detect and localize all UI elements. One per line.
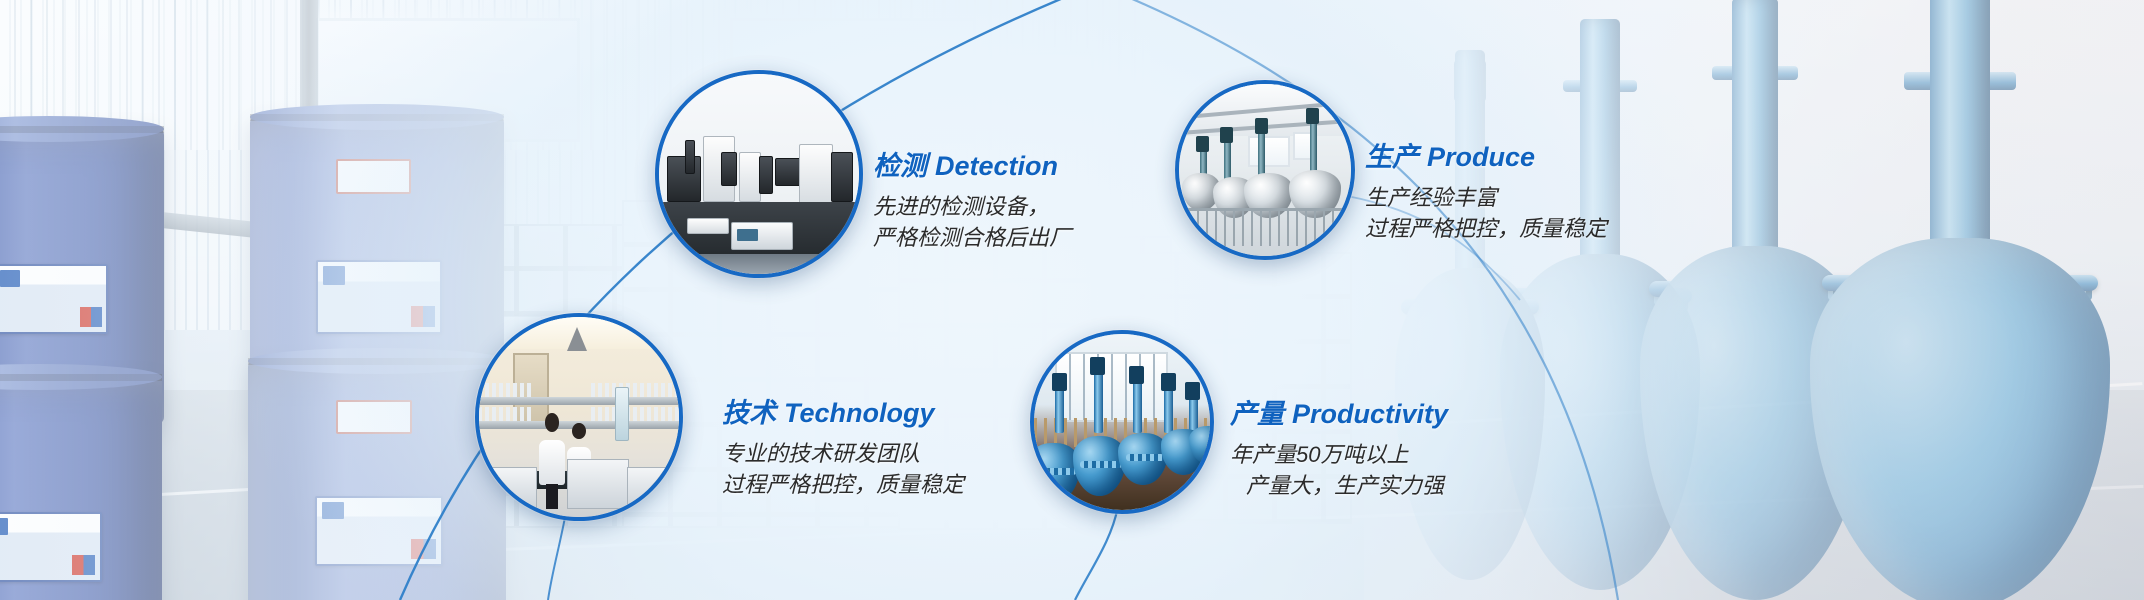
heading-en: Detection bbox=[935, 151, 1058, 181]
feature-heading-produce: 生产Produce bbox=[1365, 143, 1607, 173]
company-strengths-banner: 检测Detection 先进的检测设备， 严格检测合格后出厂 生产Produce… bbox=[0, 0, 2144, 600]
feature-line: 过程严格把控，质量稳定 bbox=[722, 469, 964, 500]
steel-reactors-photo bbox=[1179, 84, 1351, 256]
feature-photo-productivity bbox=[1030, 330, 1214, 514]
feature-heading-technology: 技术Technology bbox=[722, 399, 964, 429]
heading-cn: 生产 bbox=[1365, 142, 1419, 172]
heading-cn: 检测 bbox=[873, 151, 927, 181]
feature-line: 产量大，生产实力强 bbox=[1230, 470, 1448, 501]
feature-line: 严格检测合格后出厂 bbox=[873, 222, 1071, 253]
feature-text-productivity: 产量Productivity 年产量50万吨以上 产量大，生产实力强 bbox=[1230, 400, 1448, 501]
feature-heading-detection: 检测Detection bbox=[873, 152, 1071, 182]
feature-line: 先进的检测设备， bbox=[873, 191, 1071, 222]
feature-line: 专业的技术研发团队 bbox=[722, 438, 964, 469]
heading-cn: 产量 bbox=[1230, 399, 1284, 429]
feature-text-produce: 生产Produce 生产经验丰富 过程严格把控，质量稳定 bbox=[1365, 143, 1607, 244]
feature-line: 生产经验丰富 bbox=[1365, 182, 1607, 213]
feature-heading-productivity: 产量Productivity bbox=[1230, 400, 1448, 430]
blue-reactors-photo bbox=[1034, 334, 1210, 510]
heading-en: Productivity bbox=[1292, 399, 1448, 429]
heading-cn: 技术 bbox=[722, 398, 776, 428]
feature-text-detection: 检测Detection 先进的检测设备， 严格检测合格后出厂 bbox=[873, 152, 1071, 253]
feature-line: 年产量50万吨以上 bbox=[1230, 439, 1448, 470]
feature-photo-produce bbox=[1175, 80, 1355, 260]
feature-line: 过程严格把控，质量稳定 bbox=[1365, 213, 1607, 244]
decorative-arc-lines bbox=[0, 0, 2144, 600]
heading-en: Produce bbox=[1427, 142, 1535, 172]
feature-photo-technology bbox=[475, 313, 683, 521]
feature-text-technology: 技术Technology 专业的技术研发团队 过程严格把控，质量稳定 bbox=[722, 399, 964, 500]
feature-photo-detection bbox=[655, 70, 863, 278]
laboratory-staff-photo bbox=[479, 317, 679, 517]
lab-instruments-photo bbox=[659, 74, 859, 274]
heading-en: Technology bbox=[784, 398, 935, 428]
lab-technician bbox=[539, 413, 565, 485]
